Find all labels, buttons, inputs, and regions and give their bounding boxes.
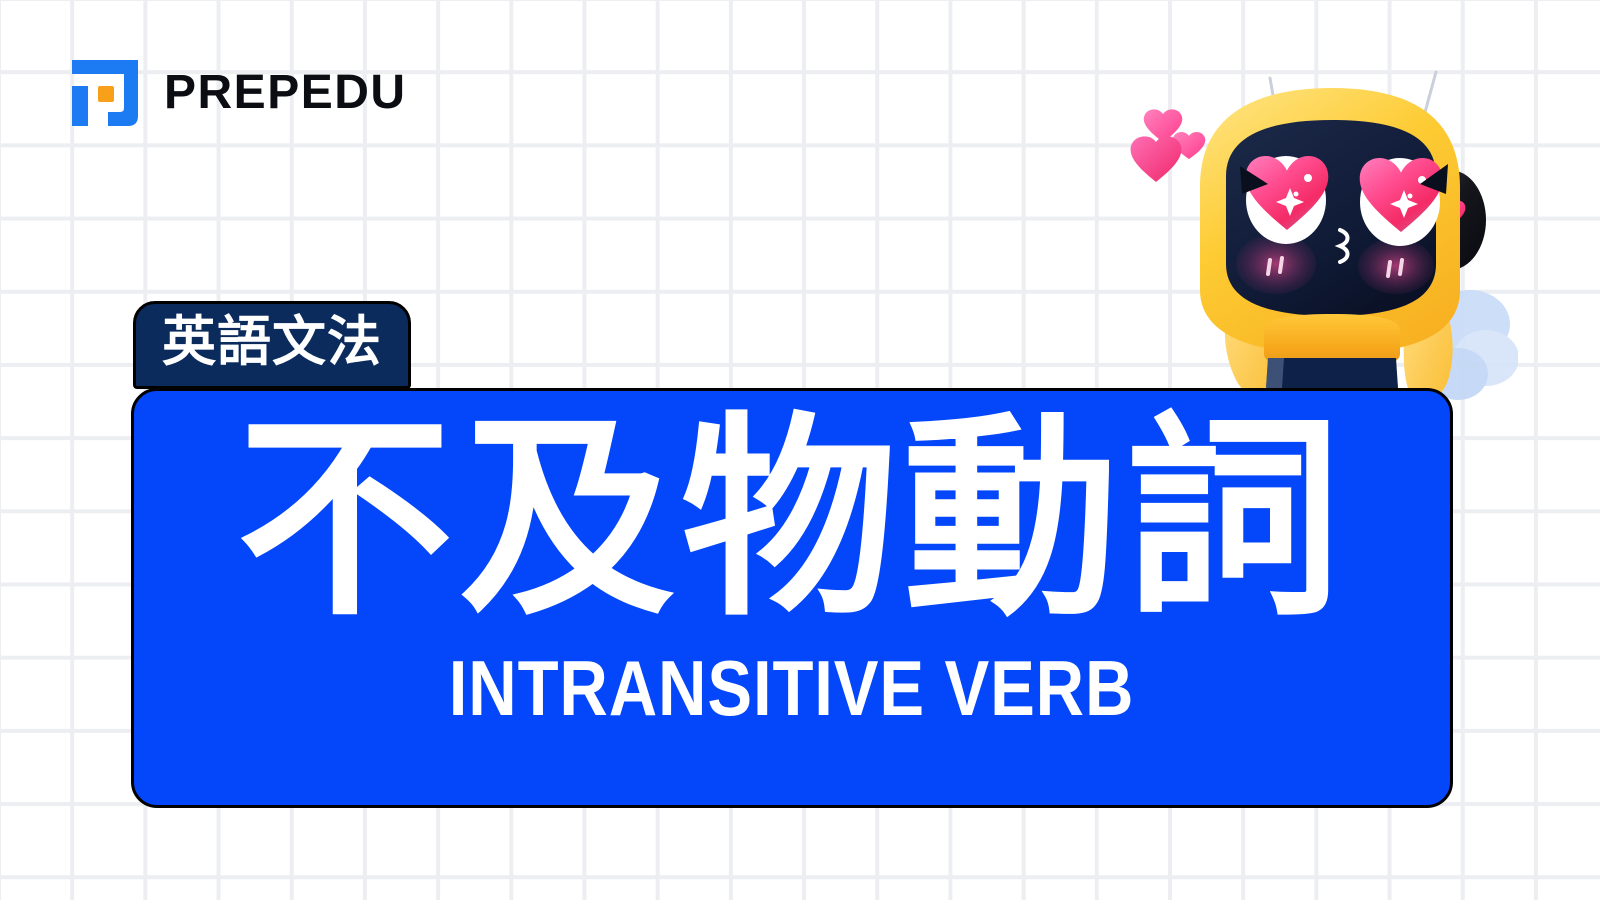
title-card: 不及物動詞 INTRANSITIVE VERB bbox=[131, 388, 1453, 808]
brand-wordmark: PREPEDU bbox=[164, 69, 407, 117]
heart-icon bbox=[1131, 136, 1182, 182]
floating-hearts bbox=[1128, 108, 1218, 188]
poster-canvas: PREPEDU bbox=[0, 0, 1600, 900]
category-badge[interactable]: 英語文法 bbox=[133, 301, 411, 389]
category-badge-label: 英語文法 bbox=[162, 315, 382, 369]
page-subtitle: INTRANSITIVE VERB bbox=[449, 649, 1134, 727]
brand-logo[interactable]: PREPEDU bbox=[68, 56, 407, 130]
page-title: 不及物動詞 bbox=[237, 399, 1347, 641]
prepedu-p-mark-icon bbox=[68, 56, 142, 130]
